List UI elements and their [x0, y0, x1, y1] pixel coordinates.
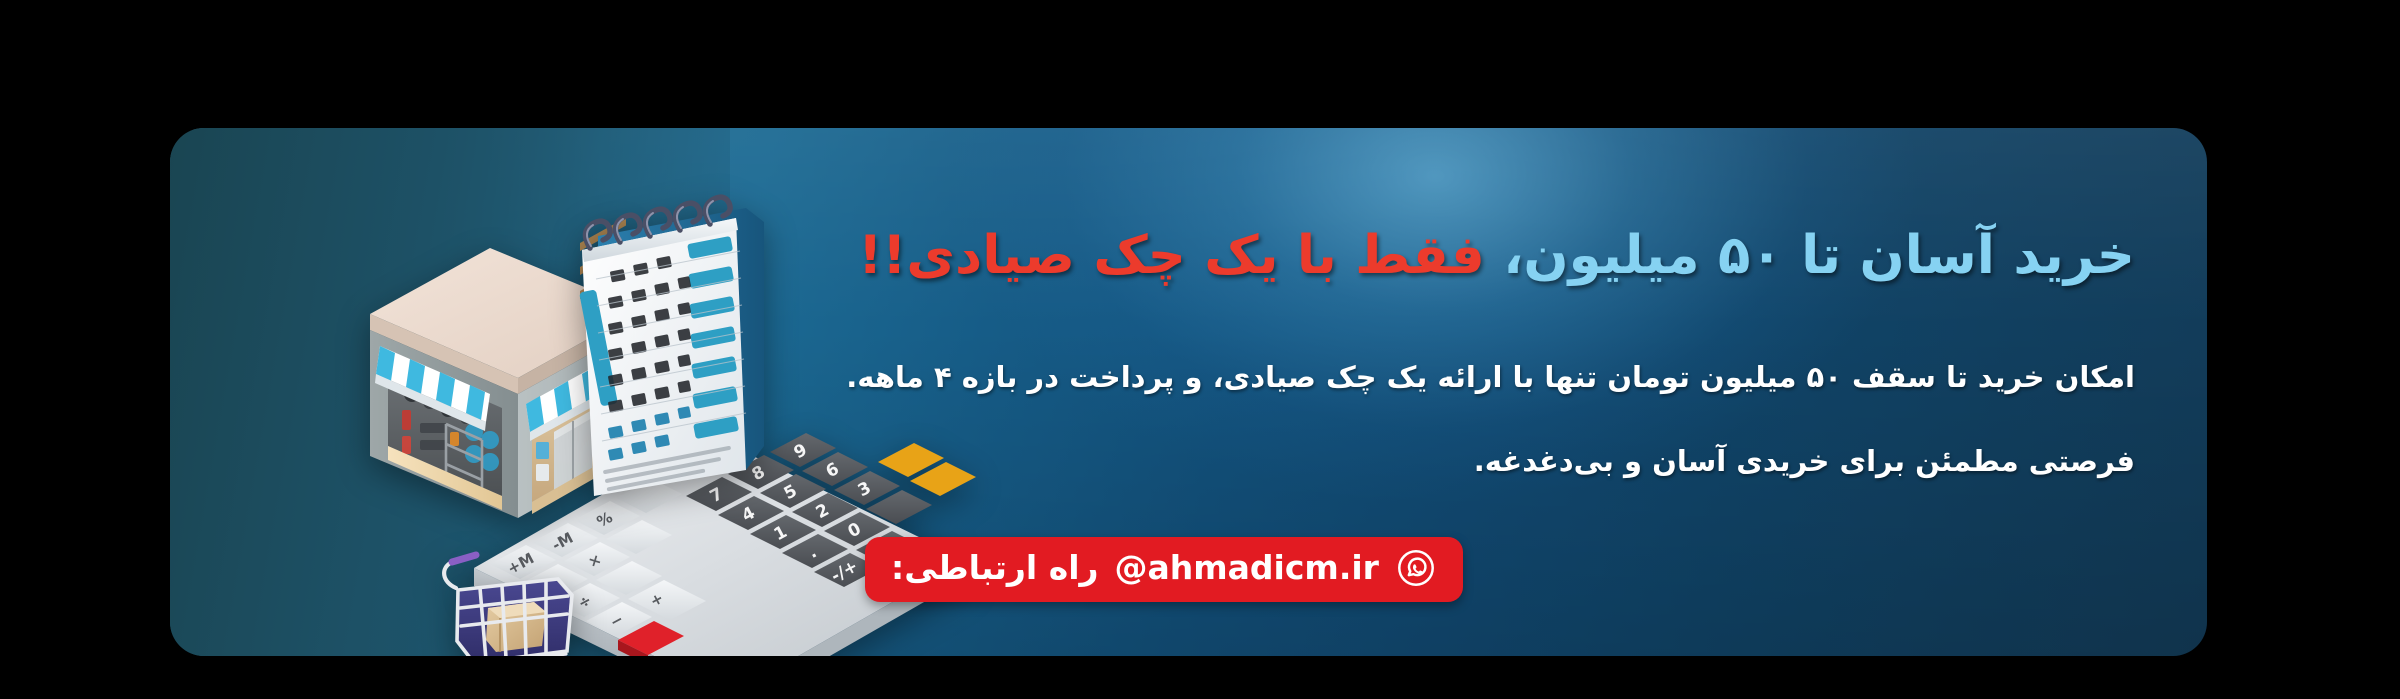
body-line-1: امکان خرید تا سقف ۵۰ میلیون تومان تنها ب… [865, 358, 2135, 397]
shopping-cart-illustration [430, 538, 610, 656]
promo-banner: 7 8 9 4 5 6 1 2 3 . 0 +/- M+ M- % [170, 128, 2207, 656]
calendar-illustration [550, 178, 780, 508]
text-content-column: خرید آسان تا ۵۰ میلیون، فقط با یک چک صیا… [865, 224, 2135, 602]
body-line-2: فرصتی مطمئن برای خریدی آسان و بی‌دغدغه. [865, 442, 2135, 481]
contact-badge-row: @ahmadicm.ir راه ارتباطی: [865, 537, 2135, 602]
contact-handle: @ahmadicm.ir [1115, 548, 1379, 587]
headline: خرید آسان تا ۵۰ میلیون، فقط با یک چک صیا… [865, 224, 2135, 289]
whatsapp-icon [1395, 547, 1437, 589]
headline-part-blue: خرید آسان تا ۵۰ میلیون، [1503, 225, 2135, 286]
headline-part-red: فقط با یک چک صیادی!! [858, 225, 1485, 286]
contact-label: راه ارتباطی: [891, 548, 1099, 587]
contact-badge[interactable]: @ahmadicm.ir راه ارتباطی: [865, 537, 1463, 602]
